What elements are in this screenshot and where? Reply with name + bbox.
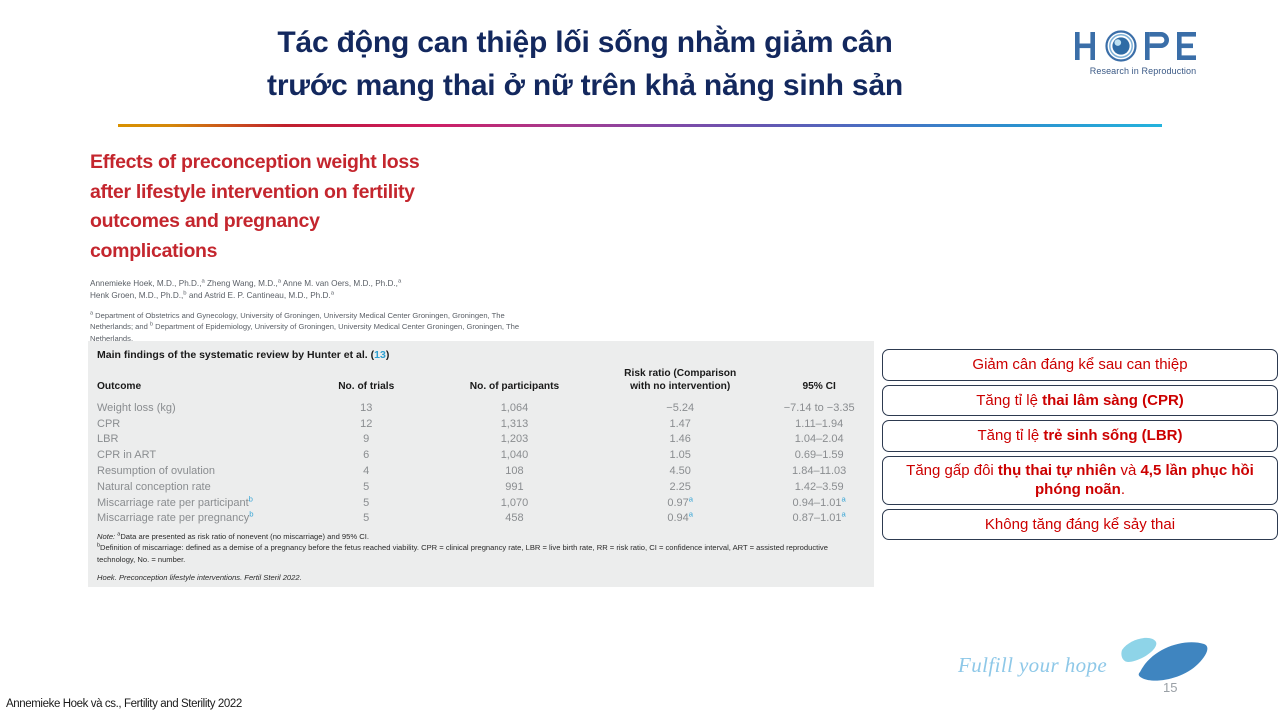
table-row: Weight loss (kg) 13 1,064 −5.24 −7.14 to… — [88, 400, 874, 416]
column-header-participants: No. of participants — [433, 367, 596, 400]
author-affil-marker: a — [331, 291, 334, 297]
cell-trials: 9 — [300, 432, 433, 448]
table-header-row: Outcome No. of trials No. of participant… — [88, 367, 874, 400]
page-title: Tác động can thiệp lối sống nhằm giảm câ… — [110, 22, 1060, 107]
findings-table-caption: Main findings of the systematic review b… — [97, 349, 389, 361]
callout-miscarriage: Không tăng đáng kể sảy thai — [882, 509, 1278, 541]
table-row: CPR 12 1,313 1.47 1.11–1.94 — [88, 416, 874, 432]
reference-link-13[interactable]: 13 — [374, 349, 386, 361]
cell-ci: 1.11–1.94 — [764, 416, 874, 432]
slide-number: 15 — [1163, 680, 1177, 695]
cell-participants: 108 — [433, 463, 596, 479]
findings-table-panel: Main findings of the systematic review b… — [88, 341, 874, 587]
table-row: Resumption of ovulation 4 108 4.50 1.84–… — [88, 463, 874, 479]
cell-participants: 1,064 — [433, 400, 596, 416]
cell-trials: 4 — [300, 463, 433, 479]
findings-table: Outcome No. of trials No. of participant… — [88, 367, 874, 527]
cell-risk-ratio: −5.24 — [596, 400, 764, 416]
authors-line-2: Henk Groen, M.D., Ph.D.,b and Astrid E. … — [90, 290, 540, 302]
cell-risk-ratio: 2.25 — [596, 479, 764, 495]
cell-participants: 1,313 — [433, 416, 596, 432]
cell-ci: 0.69–1.59 — [764, 448, 874, 464]
cell-ci: 1.04–2.04 — [764, 432, 874, 448]
table-row: Miscarriage rate per pregnancyb 5 458 0.… — [88, 511, 874, 527]
article-authors: Annemieke Hoek, M.D., Ph.D.,a Zheng Wang… — [90, 278, 540, 345]
article-title: Effects of preconception weight loss aft… — [90, 148, 570, 267]
footer-tagline: Fulfill your hope — [958, 653, 1107, 678]
column-header-ci: 95% CI — [764, 367, 874, 400]
key-findings-callouts: Giảm cân đáng kể sau can thiệp Tăng tỉ l… — [882, 349, 1278, 544]
cell-trials: 5 — [300, 495, 433, 511]
column-header-trials: No. of trials — [300, 367, 433, 400]
cell-outcome: Resumption of ovulation — [88, 463, 300, 479]
cell-participants: 1,203 — [433, 432, 596, 448]
cell-risk-ratio: 0.94a — [596, 511, 764, 527]
note-a: Note: aData are presented as risk ratio … — [97, 531, 865, 542]
cell-participants: 1,070 — [433, 495, 596, 511]
cell-trials: 13 — [300, 400, 433, 416]
cell-outcome: LBR — [88, 432, 300, 448]
footer-citation: Annemieke Hoek và cs., Fertility and Ste… — [6, 698, 242, 710]
cell-ci: 1.84–11.03 — [764, 463, 874, 479]
article-title-line-2: after lifestyle intervention on fertilit… — [90, 178, 570, 208]
note-b: bDefinition of miscarriage: defined as a… — [97, 542, 865, 565]
authors-line-1: Annemieke Hoek, M.D., Ph.D.,a Zheng Wang… — [90, 278, 540, 290]
hope-wordmark-icon — [1073, 30, 1213, 64]
cell-participants: 1,040 — [433, 448, 596, 464]
callout-weight-loss: Giảm cân đáng kể sau can thiệp — [882, 349, 1278, 381]
cell-ci: 0.94–1.01a — [764, 495, 874, 511]
article-title-line-4: complications — [90, 237, 570, 267]
table-source-citation: Hoek. Preconception lifestyle interventi… — [97, 572, 865, 583]
table-row: Natural conception rate 5 991 2.25 1.42–… — [88, 479, 874, 495]
hope-logo: Research in Reproduction — [1073, 30, 1213, 88]
cell-risk-ratio: 0.97a — [596, 495, 764, 511]
cell-outcome: Weight loss (kg) — [88, 400, 300, 416]
column-header-risk-ratio: Risk ratio (Comparison with no intervent… — [596, 367, 764, 400]
cell-outcome: Natural conception rate — [88, 479, 300, 495]
findings-table-body: Weight loss (kg) 13 1,064 −5.24 −7.14 to… — [88, 400, 874, 527]
article-title-line-1: Effects of preconception weight loss — [90, 148, 570, 178]
cell-ci: 0.87–1.01a — [764, 511, 874, 527]
article-title-line-3: outcomes and pregnancy — [90, 207, 570, 237]
cell-trials: 6 — [300, 448, 433, 464]
cell-trials: 5 — [300, 479, 433, 495]
article-affiliations: a Department of Obstetrics and Gynecolog… — [90, 310, 540, 345]
cell-ci: −7.14 to −3.35 — [764, 400, 874, 416]
cell-risk-ratio: 1.47 — [596, 416, 764, 432]
cell-outcome: Miscarriage rate per pregnancyb — [88, 511, 300, 527]
cell-outcome: CPR in ART — [88, 448, 300, 464]
page-title-line-1: Tác động can thiệp lối sống nhằm giảm câ… — [110, 22, 1060, 65]
cell-participants: 991 — [433, 479, 596, 495]
findings-table-notes: Note: aData are presented as risk ratio … — [97, 531, 865, 584]
cell-risk-ratio: 1.46 — [596, 432, 764, 448]
table-row: CPR in ART 6 1,040 1.05 0.69–1.59 — [88, 448, 874, 464]
cell-ci: 1.42–3.59 — [764, 479, 874, 495]
column-header-outcome: Outcome — [88, 367, 300, 400]
page-title-line-2: trước mang thai ở nữ trên khả năng sinh … — [110, 65, 1060, 108]
cell-trials: 5 — [300, 511, 433, 527]
cell-risk-ratio: 1.05 — [596, 448, 764, 464]
callout-cpr: Tăng tỉ lệ thai lâm sàng (CPR) — [882, 385, 1278, 417]
cell-participants: 458 — [433, 511, 596, 527]
cell-outcome: CPR — [88, 416, 300, 432]
callout-lbr: Tăng tỉ lệ trẻ sinh sống (LBR) — [882, 420, 1278, 452]
cell-risk-ratio: 4.50 — [596, 463, 764, 479]
callout-natural-conception: Tăng gấp đôi thụ thai tự nhiên và 4,5 lầ… — [882, 456, 1278, 505]
author-affil-marker: a — [398, 278, 401, 284]
cell-outcome: Miscarriage rate per participantb — [88, 495, 300, 511]
table-row: Miscarriage rate per participantb 5 1,07… — [88, 495, 874, 511]
title-gradient-divider — [118, 124, 1162, 127]
cell-trials: 12 — [300, 416, 433, 432]
table-row: LBR 9 1,203 1.46 1.04–2.04 — [88, 432, 874, 448]
hope-logo-tagline: Research in Reproduction — [1073, 66, 1213, 76]
